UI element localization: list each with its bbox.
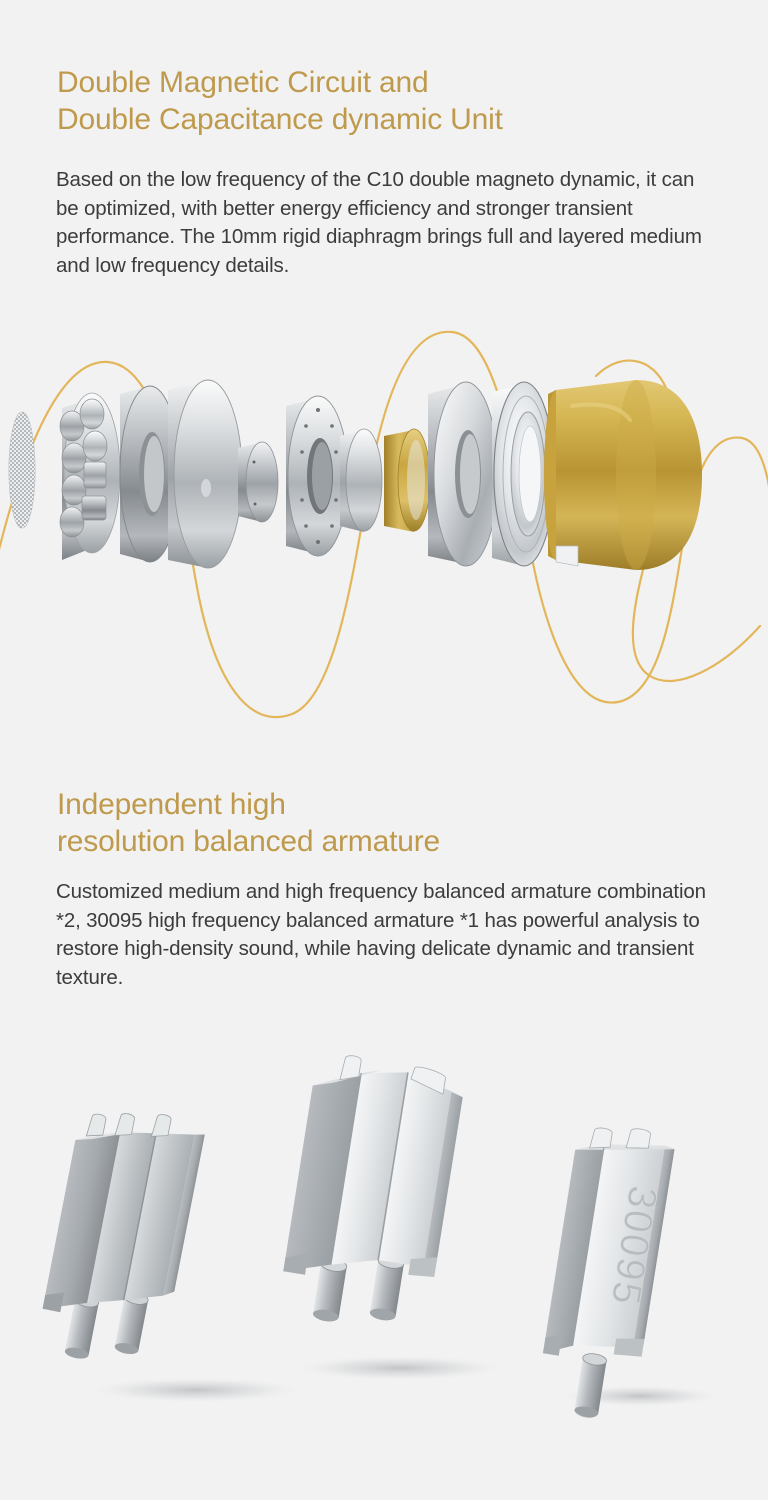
nozzle-right bbox=[574, 1352, 608, 1419]
shadow-left bbox=[86, 1377, 306, 1403]
dual-armature-unit-center bbox=[277, 1050, 467, 1337]
product-detail-page: Double Magnetic Circuit and Double Capac… bbox=[0, 0, 768, 1500]
vented-plate-part bbox=[286, 396, 348, 556]
mesh-screen-part bbox=[8, 410, 38, 532]
solid-disc-part bbox=[168, 380, 242, 568]
magnet-ring-part bbox=[428, 382, 498, 566]
spacer-part bbox=[340, 429, 382, 532]
voice-coil-gold-ring-part bbox=[384, 429, 430, 532]
nozzle-left-b bbox=[114, 1291, 149, 1356]
section-body-double-magnetic-circuit: Based on the low frequency of the C10 do… bbox=[56, 166, 716, 280]
section-heading-double-magnetic-circuit: Double Magnetic Circuit and Double Capac… bbox=[57, 64, 503, 138]
single-armature-unit-right: 30095 bbox=[534, 1119, 677, 1420]
section-heading-independent-balanced-armature: Independent high resolution balanced arm… bbox=[57, 786, 440, 860]
magnet-array-plate-part bbox=[60, 393, 120, 560]
gold-housing-cup-part bbox=[544, 380, 702, 570]
shadow-center bbox=[292, 1355, 508, 1381]
nozzle-center-b bbox=[369, 1254, 405, 1322]
balanced-armature-units-illustration: 30095 bbox=[0, 1020, 768, 1420]
dual-armature-unit-left bbox=[35, 1099, 207, 1374]
pole-piece-part bbox=[238, 442, 278, 522]
exploded-dynamic-driver-illustration bbox=[0, 310, 768, 750]
section-body-independent-balanced-armature: Customized medium and high frequency bal… bbox=[56, 878, 722, 992]
nozzle-center-a bbox=[312, 1257, 347, 1323]
